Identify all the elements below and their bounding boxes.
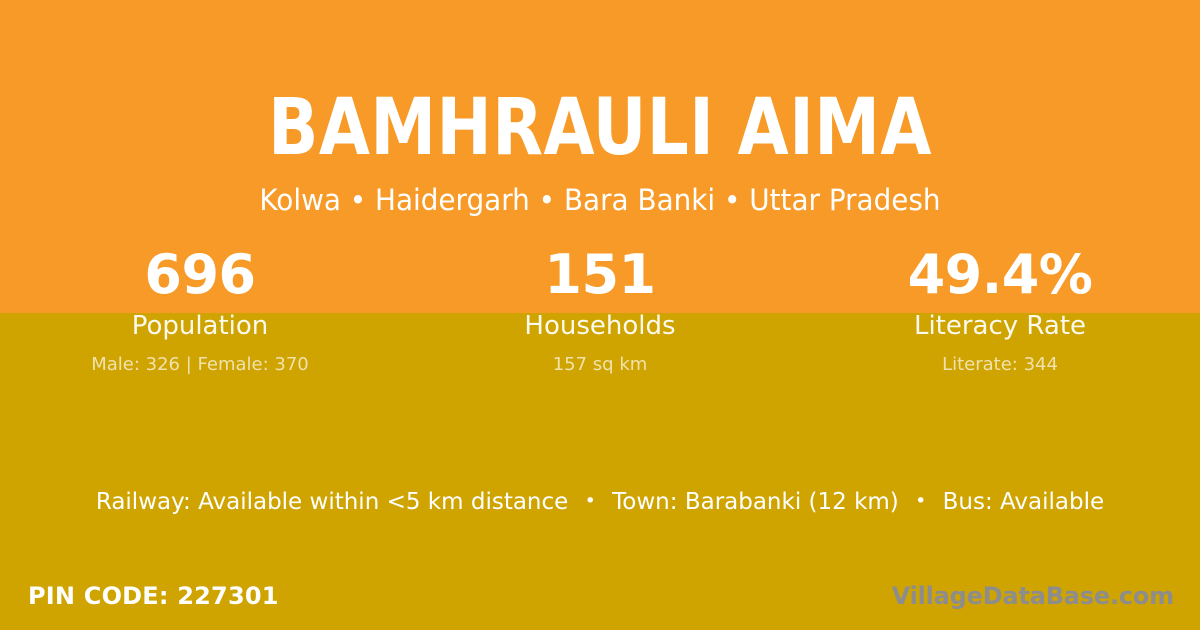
facility-separator-icon: • xyxy=(576,485,605,517)
stat-value: 696 xyxy=(0,244,400,306)
facility-town: Town: Barabanki (12 km) xyxy=(612,489,899,515)
facility-railway: Railway: Available within <5 km distance xyxy=(96,489,568,515)
stats-row: 696 Population Male: 326 | Female: 370 1… xyxy=(0,244,1200,378)
stat-label: Households xyxy=(400,309,800,343)
pin-code: PIN CODE: 227301 xyxy=(28,580,279,612)
facilities-line: Railway: Available within <5 km distance… xyxy=(0,485,1200,518)
village-info-card: BAMHRAULI AIMA Kolwa • Haidergarh • Bara… xyxy=(0,0,1200,630)
stat-sub-detail: Literate: 344 xyxy=(800,352,1200,378)
stat-sub-detail: 157 sq km xyxy=(400,352,800,378)
footer: PIN CODE: 227301 VillageDataBase.com xyxy=(0,568,1200,630)
page-title: BAMHRAULI AIMA xyxy=(36,84,1164,172)
stat-population: 696 Population Male: 326 | Female: 370 xyxy=(0,244,400,378)
brand-watermark: VillageDataBase.com xyxy=(892,580,1174,612)
stat-value: 151 xyxy=(400,244,800,306)
stat-sub-detail: Male: 326 | Female: 370 xyxy=(0,352,400,378)
stat-label: Literacy Rate xyxy=(800,309,1200,343)
stat-households: 151 Households 157 sq km xyxy=(400,244,800,378)
facility-separator-icon: • xyxy=(906,485,935,517)
stat-value: 49.4% xyxy=(800,244,1200,306)
facility-bus: Bus: Available xyxy=(943,489,1105,515)
stat-literacy-rate: 49.4% Literacy Rate Literate: 344 xyxy=(800,244,1200,378)
location-breadcrumb: Kolwa • Haidergarh • Bara Banki • Uttar … xyxy=(24,182,1176,218)
stat-label: Population xyxy=(0,309,400,343)
